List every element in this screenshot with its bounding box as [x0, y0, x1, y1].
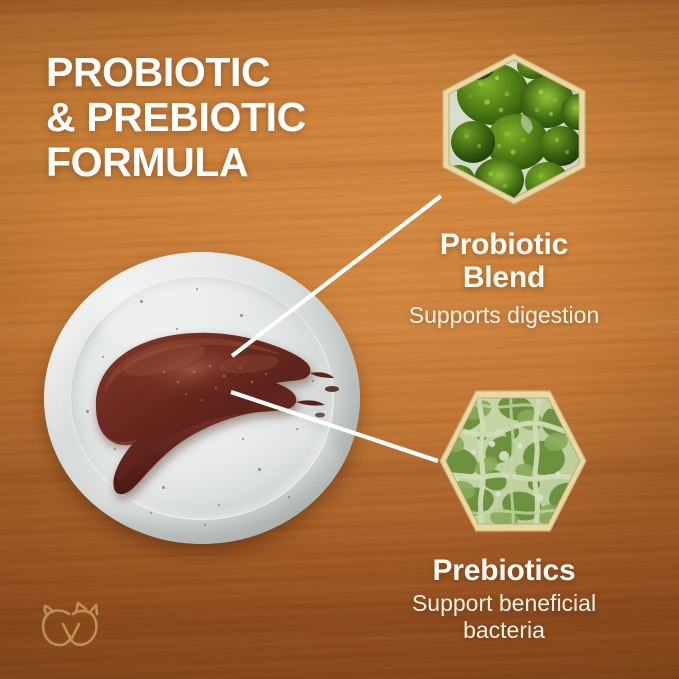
pet-head-v-monogram-logo: [36, 600, 106, 656]
callout-prebiotic: Prebiotics Support beneficial bacteria: [368, 554, 640, 644]
chocolate-paste-smear: [44, 252, 360, 544]
prebiotic-fiber-hexagon: [434, 386, 592, 536]
probiotic-culture-hexagon: [437, 50, 593, 208]
plate-with-paste: [44, 252, 360, 544]
ceramic-plate: [44, 252, 360, 544]
callout-probiotic: Probiotic Blend Supports digestion: [368, 228, 640, 329]
product-infographic: PROBIOTIC & PREBIOTIC FORMULA: [0, 0, 679, 679]
page-title: PROBIOTIC & PREBIOTIC FORMULA: [46, 50, 306, 185]
callout-prebiotic-subtitle: Support beneficial bacteria: [368, 590, 640, 644]
callout-prebiotic-title: Prebiotics: [368, 554, 640, 587]
callout-probiotic-subtitle: Supports digestion: [368, 302, 640, 329]
callout-probiotic-title: Probiotic Blend: [368, 228, 640, 294]
